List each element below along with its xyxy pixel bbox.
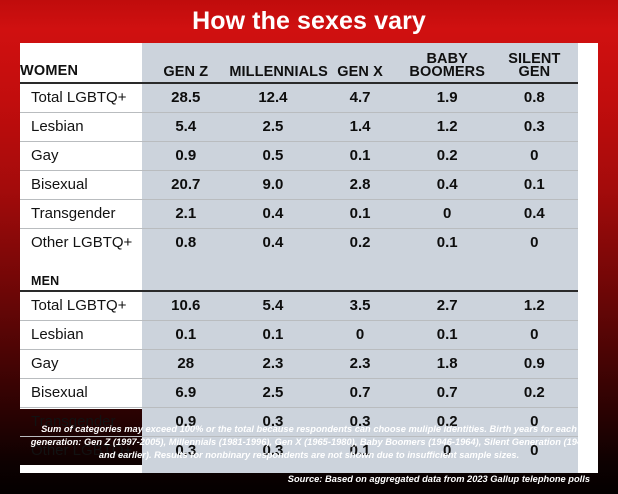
- data-cell: 10.6: [142, 291, 229, 320]
- data-cell: 0: [316, 320, 403, 349]
- footnote-text: Sum of categories may exceed 100% or the…: [26, 423, 592, 463]
- row-label: Other LGBTQ+: [20, 228, 142, 257]
- band-tail-cell: [491, 257, 578, 265]
- column-gap: [578, 378, 598, 407]
- table-row: Total LGBTQ+10.65.43.52.71.2: [20, 291, 598, 320]
- table-row: Gay0.90.50.10.20: [20, 141, 598, 170]
- data-cell: 0.2: [404, 141, 491, 170]
- data-cell: 0: [491, 228, 578, 257]
- section-band-cell: [229, 265, 316, 291]
- row-label: Total LGBTQ+: [20, 291, 142, 320]
- table-row: Total LGBTQ+28.512.44.71.90.8: [20, 83, 598, 112]
- table-row: Other LGBTQ+0.80.40.20.10: [20, 228, 598, 257]
- data-cell: 1.8: [404, 349, 491, 378]
- data-cell: 20.7: [142, 170, 229, 199]
- row-label: Gay: [20, 349, 142, 378]
- data-cell: 0.8: [491, 83, 578, 112]
- column-header-line2: BOOMERS: [404, 66, 491, 79]
- row-label: Total LGBTQ+: [20, 83, 142, 112]
- band-tail-cell: [404, 257, 491, 265]
- column-header-line1: GEN Z: [163, 64, 208, 80]
- title-bar: How the sexes vary: [0, 0, 618, 43]
- data-cell: 0.1: [316, 141, 403, 170]
- data-cell: 0.4: [229, 199, 316, 228]
- band-tail-cell: [229, 257, 316, 265]
- data-cell: 0.1: [316, 199, 403, 228]
- column-gap: [578, 228, 598, 257]
- band-tail-cell: [316, 257, 403, 265]
- row-label: Lesbian: [20, 320, 142, 349]
- data-cell: 0: [491, 320, 578, 349]
- table-row: Transgender2.10.40.100.4: [20, 199, 598, 228]
- data-cell: 0.4: [404, 170, 491, 199]
- band-tail-row: [20, 257, 598, 265]
- column-header-gen-x: GEN X: [316, 43, 403, 83]
- data-cell: 12.4: [229, 83, 316, 112]
- data-cell: 5.4: [142, 112, 229, 141]
- data-cell: 0.4: [491, 199, 578, 228]
- column-gap: [578, 43, 598, 83]
- column-gap: [578, 291, 598, 320]
- data-cell: 1.2: [404, 112, 491, 141]
- footer: Sum of categories may exceed 100% or the…: [0, 409, 618, 494]
- data-cell: 2.5: [229, 112, 316, 141]
- data-cell: 2.3: [316, 349, 403, 378]
- data-cell: 0.2: [491, 378, 578, 407]
- data-cell: 0.4: [229, 228, 316, 257]
- data-cell: 28.5: [142, 83, 229, 112]
- data-cell: 0.3: [491, 112, 578, 141]
- data-cell: 0.7: [404, 378, 491, 407]
- column-header-line1: MILLENNIALS: [229, 64, 328, 80]
- column-header-line1: GEN X: [337, 64, 383, 80]
- data-cell: 0.2: [316, 228, 403, 257]
- row-label: Bisexual: [20, 378, 142, 407]
- table-row: Lesbian5.42.51.41.20.3: [20, 112, 598, 141]
- data-cell: 0.5: [229, 141, 316, 170]
- section-header-row: MEN: [20, 265, 598, 291]
- source-text: Source: Based on aggregated data from 20…: [26, 474, 592, 484]
- column-gap: [578, 257, 598, 265]
- data-cell: 0.1: [404, 228, 491, 257]
- data-cell: 0.7: [316, 378, 403, 407]
- table-row: Bisexual6.92.50.70.70.2: [20, 378, 598, 407]
- band-tail-cell: [142, 257, 229, 265]
- data-cell: 4.7: [316, 83, 403, 112]
- column-header-silent-gen: SILENTGEN: [491, 43, 578, 83]
- data-cell: 5.4: [229, 291, 316, 320]
- section-band-cell: [142, 265, 229, 291]
- table-row: Bisexual20.79.02.80.40.1: [20, 170, 598, 199]
- data-cell: 1.2: [491, 291, 578, 320]
- row-label: Transgender: [20, 199, 142, 228]
- data-cell: 0.1: [229, 320, 316, 349]
- column-header-millennials: MILLENNIALS: [229, 43, 316, 83]
- column-gap: [578, 112, 598, 141]
- section-band-cell: [491, 265, 578, 291]
- column-gap: [578, 199, 598, 228]
- data-cell: 28: [142, 349, 229, 378]
- row-label: Bisexual: [20, 170, 142, 199]
- data-cell: 0.9: [142, 141, 229, 170]
- row-label: Lesbian: [20, 112, 142, 141]
- table-header-row: WOMENGEN ZMILLENNIALSGEN XBABYBOOMERSSIL…: [20, 43, 598, 83]
- data-cell: 6.9: [142, 378, 229, 407]
- data-cell: 0.1: [142, 320, 229, 349]
- data-table-panel: WOMENGEN ZMILLENNIALSGEN XBABYBOOMERSSIL…: [20, 43, 598, 409]
- infographic-root: How the sexes vary WOMENGEN ZMILLENNIALS…: [0, 0, 618, 494]
- column-header-gen-z: GEN Z: [142, 43, 229, 83]
- data-cell: 0: [404, 199, 491, 228]
- band-tail-label: [20, 257, 142, 265]
- data-cell: 2.8: [316, 170, 403, 199]
- section-band-cell: [404, 265, 491, 291]
- data-cell: 0.1: [491, 170, 578, 199]
- data-cell: 3.5: [316, 291, 403, 320]
- column-header-baby-boomers: BABYBOOMERS: [404, 43, 491, 83]
- column-gap: [578, 170, 598, 199]
- data-cell: 9.0: [229, 170, 316, 199]
- data-cell: 0.1: [404, 320, 491, 349]
- column-gap: [578, 320, 598, 349]
- column-gap: [578, 265, 598, 291]
- column-gap: [578, 141, 598, 170]
- page-title: How the sexes vary: [192, 9, 426, 34]
- data-cell: 0.9: [491, 349, 578, 378]
- data-cell: 1.9: [404, 83, 491, 112]
- data-cell: 0: [491, 141, 578, 170]
- data-cell: 2.1: [142, 199, 229, 228]
- table-row: Gay282.32.31.80.9: [20, 349, 598, 378]
- row-label: Gay: [20, 141, 142, 170]
- data-cell: 2.5: [229, 378, 316, 407]
- section-label-women: WOMEN: [20, 43, 142, 83]
- table-row: Lesbian0.10.100.10: [20, 320, 598, 349]
- data-cell: 2.7: [404, 291, 491, 320]
- section-band-cell: [316, 265, 403, 291]
- column-header-line2: GEN: [491, 66, 578, 79]
- column-gap: [578, 83, 598, 112]
- section-label-men: MEN: [20, 265, 142, 291]
- column-gap: [578, 349, 598, 378]
- data-cell: 0.8: [142, 228, 229, 257]
- data-cell: 1.4: [316, 112, 403, 141]
- data-cell: 2.3: [229, 349, 316, 378]
